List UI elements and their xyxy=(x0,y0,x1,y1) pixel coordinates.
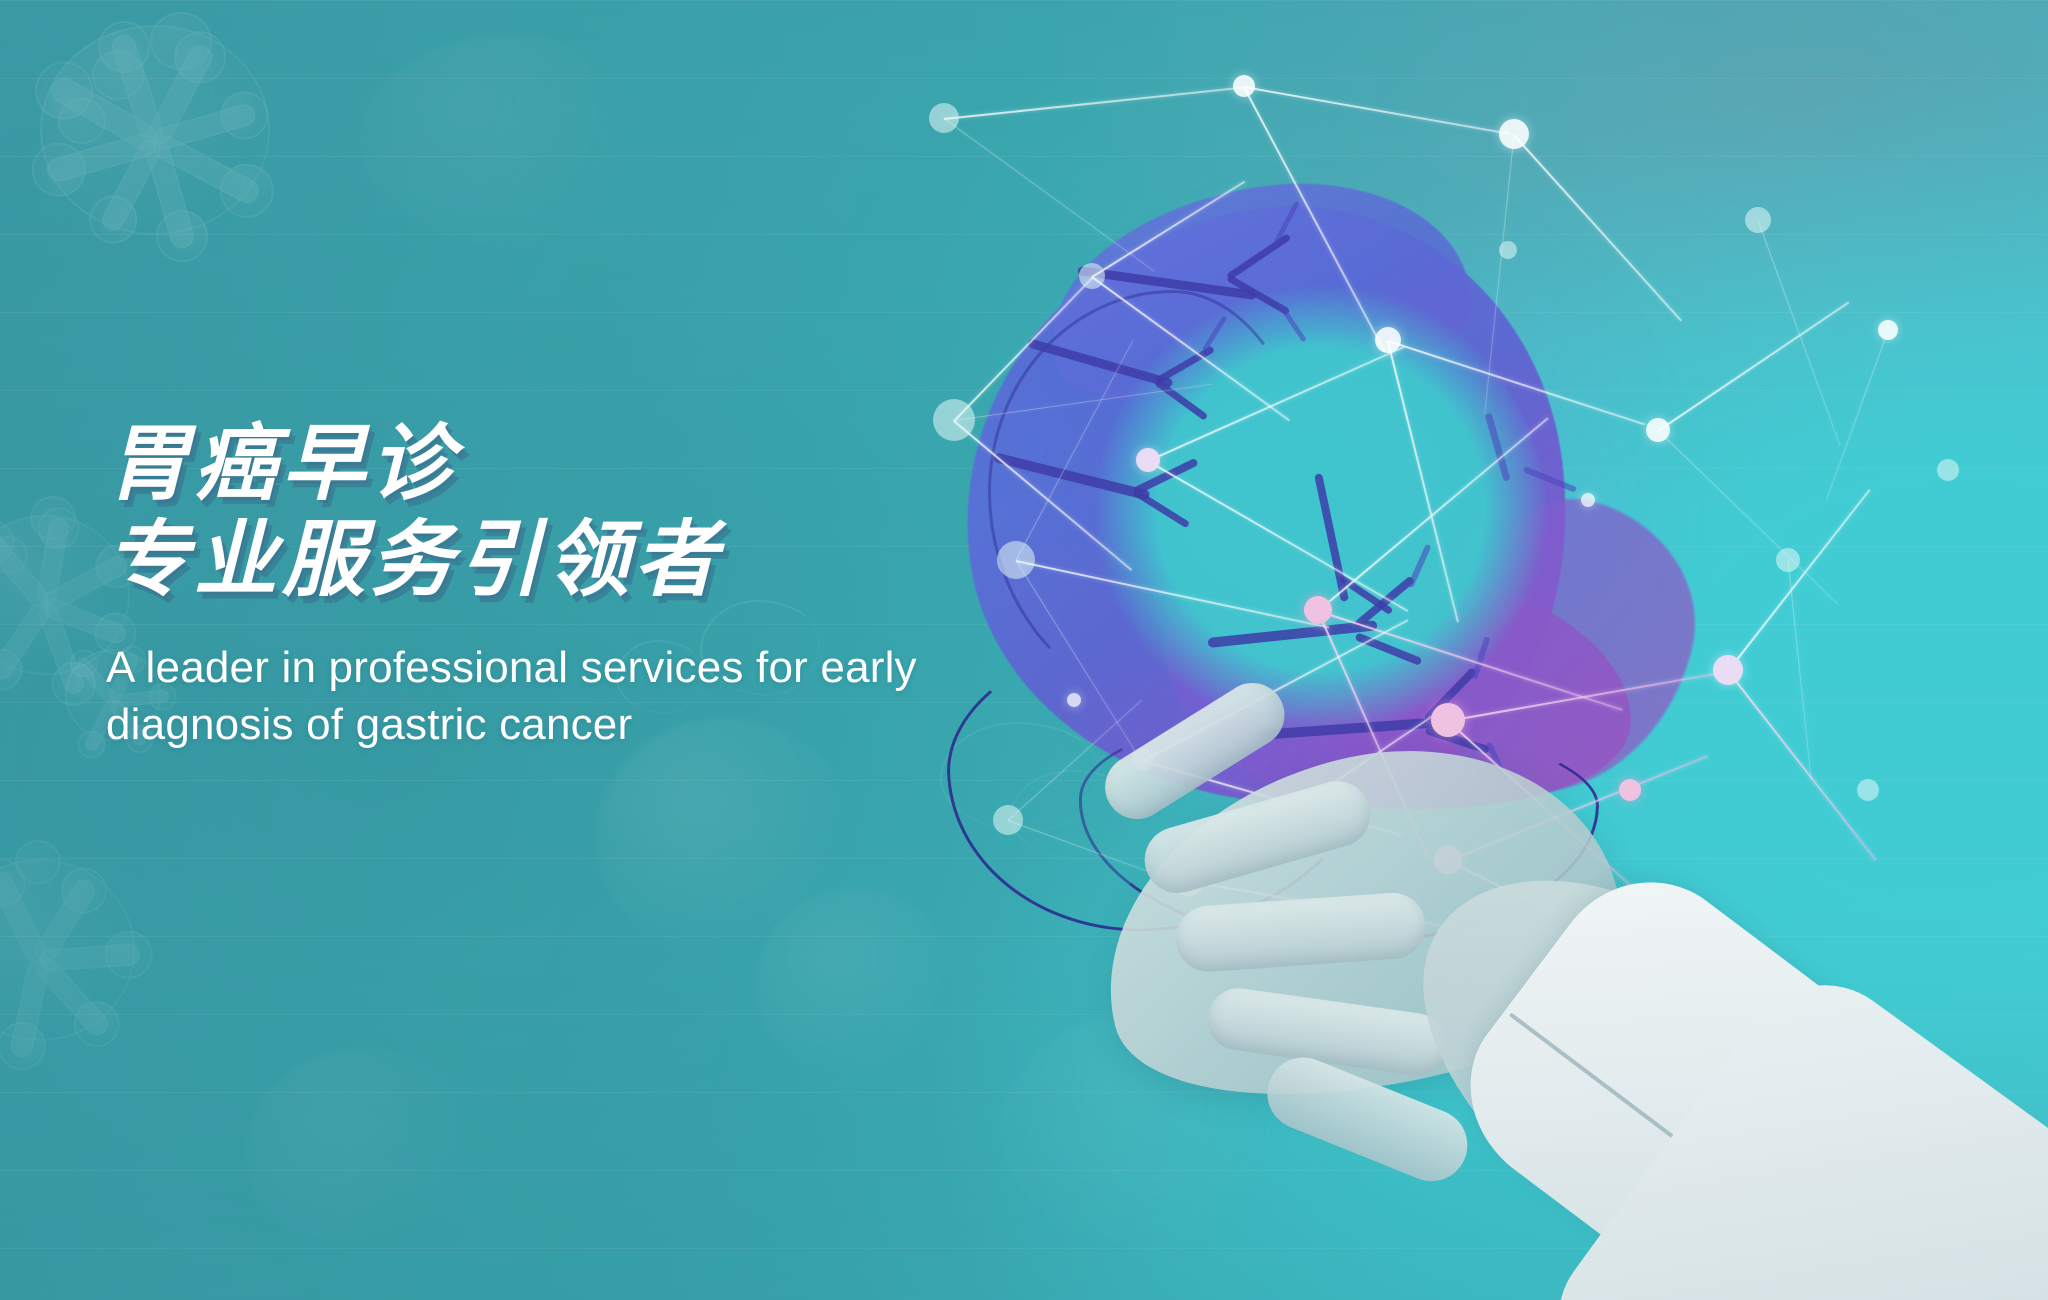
mesh-edge xyxy=(1513,134,1681,321)
headline-line-1: 胃癌早诊 xyxy=(106,416,1166,512)
mesh-node xyxy=(1499,119,1529,149)
mesh-edge xyxy=(1148,460,1409,611)
mesh-edge xyxy=(1658,302,1850,432)
mesh-edge xyxy=(1658,430,1839,605)
mesh-edge xyxy=(1243,86,1385,352)
mesh-edge xyxy=(1317,417,1548,611)
mesh-edge xyxy=(944,87,1243,120)
virus-cell-icon xyxy=(0,760,230,1140)
mesh-edge xyxy=(1244,86,1510,134)
mesh-node xyxy=(1304,596,1332,624)
mesh-node xyxy=(1233,75,1255,97)
mesh-node xyxy=(929,103,959,133)
subtitle-line-1: A leader in professional services for ea… xyxy=(106,639,1116,696)
mesh-edge xyxy=(1388,340,1645,425)
virus-cell-icon xyxy=(0,0,370,330)
mesh-edge xyxy=(1387,341,1459,623)
headline-line-2: 专业服务引领者 xyxy=(106,512,1166,608)
open-hand-holding-organ xyxy=(1058,640,2038,1300)
mesh-node xyxy=(1499,241,1517,259)
mesh-node xyxy=(1937,459,1959,481)
banner-root: 胃癌早诊 专业服务引领者 A leader in professional se… xyxy=(0,0,2048,1300)
mesh-edge xyxy=(1484,135,1514,414)
mesh-edge xyxy=(1757,220,1840,446)
mesh-node xyxy=(1581,493,1595,507)
mesh-node xyxy=(993,805,1023,835)
mesh-node xyxy=(1079,263,1105,289)
mesh-edge xyxy=(1092,276,1290,421)
banner-copy-block: 胃癌早诊 专业服务引领者 A leader in professional se… xyxy=(106,416,1166,753)
mesh-edge xyxy=(1092,181,1245,278)
mesh-node xyxy=(1646,418,1670,442)
mesh-edge xyxy=(1148,346,1404,461)
mesh-node xyxy=(1375,327,1401,353)
mesh-edge xyxy=(944,118,1155,272)
mesh-node xyxy=(1878,320,1898,340)
cell-blob-icon xyxy=(360,36,660,246)
mesh-edge xyxy=(1826,330,1889,500)
subtitle-block: A leader in professional services for ea… xyxy=(106,639,1116,753)
cell-blob-icon xyxy=(246,1048,486,1258)
mesh-node xyxy=(1745,207,1771,233)
subtitle-line-2: diagnosis of gastric cancer xyxy=(106,696,1116,753)
mesh-node xyxy=(1776,548,1800,572)
mesh-edge xyxy=(953,276,1093,421)
